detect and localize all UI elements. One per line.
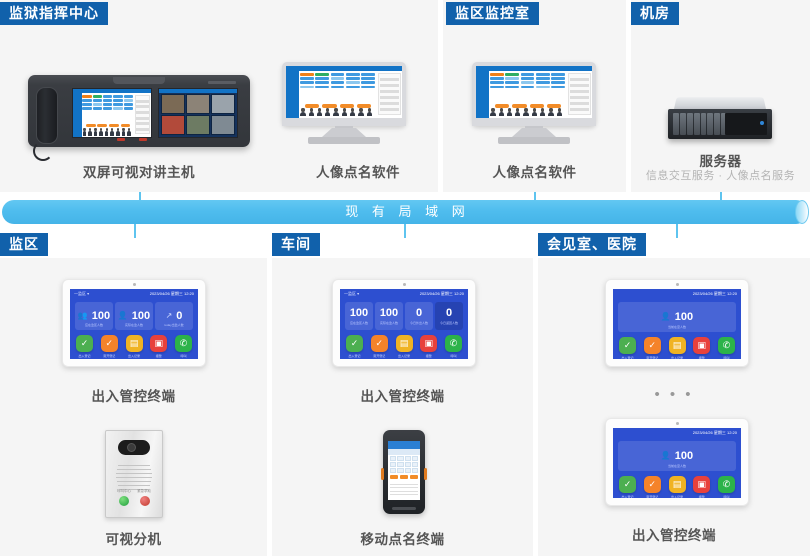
stat-label: 实际在监人数 <box>115 323 153 327</box>
tablet-screen-4: 2023/04/26 星期三 12:20 👤 100 当前在室人数 ✓ 出入登记 <box>613 428 741 498</box>
tablet-screen-3: 2023/04/26 星期三 12:20 👤 100 当前在室人数 ✓ 出入登记 <box>613 289 741 359</box>
subcaption-server: 信息交互服务 · 人像点名服务 <box>631 167 810 183</box>
terminal-datetime: 2023/04/26 星期三 12:20 <box>693 291 737 297</box>
app-alarm[interactable]: ▣ 报警 <box>420 335 437 358</box>
host-right-screen <box>158 88 238 138</box>
lock-icon: ▣ <box>693 476 710 493</box>
app-label: 报警 <box>693 495 710 498</box>
app-label: 离开登记 <box>644 495 661 498</box>
label-call-center: 呼叫中心 <box>117 489 131 494</box>
terminal-stats-row-2: 100 应在监区人数 100 实际在监人数 0 今日外出人数 <box>345 302 463 330</box>
label-emergency: 紧急求助 <box>137 489 151 494</box>
sw-right-table <box>135 95 151 134</box>
server-drive-bays <box>673 113 727 135</box>
host-left-screen <box>72 88 152 138</box>
stat-card: 100 应在监区人数 <box>345 302 373 330</box>
dual-screen-intercom-host <box>28 75 250 147</box>
document-icon: ▤ <box>126 335 143 352</box>
monitor-stand-base-1 <box>308 137 380 144</box>
access-control-terminal-3[interactable]: 2023/04/26 星期三 12:20 👤 100 当前在室人数 ✓ 出入登记 <box>605 279 749 367</box>
app-entry-register[interactable]: ✓ 出入登记 <box>346 335 363 358</box>
access-control-terminal-4[interactable]: 2023/04/26 星期三 12:20 👤 100 当前在室人数 ✓ 出入登记 <box>605 418 749 506</box>
app-label: 呼叫 <box>718 495 735 498</box>
stat-card: 👤 100 实际在监人数 <box>115 302 153 330</box>
check-icon: ✓ <box>101 335 118 352</box>
terminal-app-row-2: ✓ 出入登记 ✓ 离开登记 ▤ 出入记录 ▣ 报警 <box>346 335 462 358</box>
tablet-camera-dot <box>676 283 679 286</box>
app-leave-register[interactable]: ✓ 离开登记 <box>101 335 118 358</box>
tablet-shell-3: 2023/04/26 星期三 12:20 👤 100 当前在室人数 ✓ 出入登记 <box>605 279 749 367</box>
caption-terminal-meeting: 出入管控终端 <box>538 524 810 544</box>
terminal-app-row-4: ✓ 出入登记 ✓ 离开登记 ▤ 出入记录 ▣ 报警 <box>619 476 735 498</box>
phone-icon: ✆ <box>445 335 462 352</box>
app-entry-register[interactable]: ✓ 出入登记 <box>76 335 93 358</box>
app-label: 报警 <box>150 354 167 358</box>
tablet-camera-dot <box>133 283 136 286</box>
people-icon: 👥 <box>78 312 88 320</box>
tab-monitor-room: 监区监控室 <box>446 2 539 25</box>
pda-chassis <box>383 430 425 514</box>
app-entry-register[interactable]: ✓ 出入登记 <box>619 337 636 359</box>
monitor-bezel-1 <box>282 62 406 126</box>
check-icon: ✓ <box>371 335 388 352</box>
lan-bar-endcap <box>795 200 809 224</box>
lan-network-label: 现 有 局 域 网 <box>2 200 808 224</box>
access-control-terminal-2[interactable]: 一监区 ▾ 2023/04/26 星期三 12:20 100 应在监区人数 10… <box>332 279 476 367</box>
video-door-extension[interactable]: 呼叫中心 紧急求助 <box>105 430 163 518</box>
app-label: 出入记录 <box>669 356 686 359</box>
stat-card: 100 实际在监人数 <box>375 302 403 330</box>
stat-card: 👥 100 应在监区人数 <box>75 302 113 330</box>
terminal-stats-row-4: 👤 100 当前在室人数 <box>618 441 736 471</box>
connector-prison-area <box>134 224 136 238</box>
tab-meeting-hospital: 会见室、医院 <box>538 233 646 256</box>
emergency-button[interactable] <box>140 496 150 506</box>
camera-lens <box>127 443 136 452</box>
app-label: 报警 <box>693 356 710 359</box>
more-devices-ellipsis: • • • <box>538 386 810 403</box>
host-status-leds <box>117 138 161 142</box>
app-label: 呼叫 <box>175 354 192 358</box>
phone-icon: ✆ <box>718 337 735 354</box>
phone-icon: ✆ <box>718 476 735 493</box>
stat-card: 0 今日外出人数 <box>405 302 433 330</box>
tablet-screen-1: 一监区 ▾ 2023/04/26 星期三 12:20 👥 100 应在监区人数 … <box>70 289 198 359</box>
tablet-shell-2: 一监区 ▾ 2023/04/26 星期三 12:20 100 应在监区人数 10… <box>332 279 476 367</box>
stat-label: 应在监区人数 <box>75 323 113 327</box>
stat-value: 100 <box>675 312 693 323</box>
monitor-roll-call-1 <box>282 62 406 144</box>
terminal-app-row-3: ✓ 出入登记 ✓ 离开登记 ▤ 出入记录 ▣ 报警 <box>619 337 735 359</box>
intercom-buttons <box>106 496 162 506</box>
host-brand-mark <box>208 81 236 84</box>
mobile-roll-call-terminal[interactable] <box>383 430 425 514</box>
app-leave-register[interactable]: ✓ 离开登记 <box>644 476 661 498</box>
tablet-screen-2: 一监区 ▾ 2023/04/26 星期三 12:20 100 应在监区人数 10… <box>340 289 468 359</box>
tablet-camera-dot <box>403 283 406 286</box>
stat-label: 实际在监人数 <box>380 321 398 325</box>
caption-terminal-workshop: 出入管控终端 <box>272 385 533 405</box>
app-call[interactable]: ✆ 呼叫 <box>718 476 735 498</box>
lock-icon: ▣ <box>693 337 710 354</box>
roll-call-software-mock <box>286 66 402 118</box>
app-call[interactable]: ✆ 呼叫 <box>175 335 192 358</box>
app-label: 报警 <box>420 354 437 358</box>
call-button[interactable] <box>119 496 129 506</box>
roll-call-software-mock <box>73 89 151 137</box>
video-wall-mock <box>159 89 237 137</box>
app-records[interactable]: ▤ 出入记录 <box>126 335 143 358</box>
stat-label: 当前在室人数 <box>618 464 736 468</box>
pda-home-bar[interactable] <box>392 507 416 510</box>
handset-icon <box>36 87 58 144</box>
app-call[interactable]: ✆ 呼叫 <box>445 335 462 358</box>
check-icon: ✓ <box>644 337 661 354</box>
intercom-faceplate: 呼叫中心 紧急求助 <box>105 430 163 518</box>
tablet-camera-dot <box>676 422 679 425</box>
pda-subheader <box>388 449 420 454</box>
app-call[interactable]: ✆ 呼叫 <box>718 337 735 359</box>
app-label: 离开登记 <box>644 356 661 359</box>
app-records[interactable]: ▤ 出入记录 <box>396 335 413 358</box>
check-icon: ✓ <box>346 335 363 352</box>
caption-terminal-prison-area: 出入管控终端 <box>0 385 267 405</box>
stat-value: 0 <box>176 311 182 322</box>
stat-card: 0 今日返回人数 <box>435 302 463 330</box>
tab-workshop: 车间 <box>272 233 320 256</box>
server-power-led <box>760 121 764 125</box>
lan-network-bar: 现 有 局 域 网 <box>2 200 808 224</box>
caption-video-extension: 可视分机 <box>0 528 267 548</box>
stat-card: 👤 100 当前在室人数 <box>618 302 736 332</box>
tablet-shell-4: 2023/04/26 星期三 12:20 👤 100 当前在室人数 ✓ 出入登记 <box>605 418 749 506</box>
terminal-statusbar-1: 一监区 ▾ 2023/04/26 星期三 12:20 <box>70 289 198 300</box>
app-label: 出入记录 <box>126 354 143 358</box>
stat-label: 当前在室人数 <box>618 325 736 329</box>
lock-icon: ▣ <box>150 335 167 352</box>
sw-sidebar <box>73 93 82 137</box>
pda-side-button-left[interactable] <box>381 468 384 480</box>
caption-roll-call-software-1: 人像点名软件 <box>278 161 438 181</box>
stat-value: 100 <box>92 311 110 322</box>
rack-server <box>668 96 772 139</box>
app-label: 出入记录 <box>669 495 686 498</box>
topology-diagram: 监狱指挥中心 监区监控室 机房 <box>0 0 810 556</box>
person-icon: 👤 <box>661 313 671 321</box>
tablet-shell-1: 一监区 ▾ 2023/04/26 星期三 12:20 👥 100 应在监区人数 … <box>62 279 206 367</box>
pda-number-grid <box>390 456 418 473</box>
terminal-stats-row-3: 👤 100 当前在室人数 <box>618 302 736 332</box>
stat-card: ↗ 0 today出监人数 <box>155 302 193 330</box>
terminal-statusbar-4: 2023/04/26 星期三 12:20 <box>613 428 741 439</box>
app-label: 出入登记 <box>619 495 636 498</box>
app-label: 出入登记 <box>76 354 93 358</box>
terminal-datetime: 2023/04/26 星期三 12:20 <box>693 430 737 436</box>
pda-app-titlebar <box>388 441 420 449</box>
monitor-chin-2 <box>472 118 596 126</box>
person-icon: 👤 <box>118 312 128 320</box>
host-camera-bar <box>113 77 165 84</box>
stat-label: today出监人数 <box>155 323 193 327</box>
app-label: 呼叫 <box>718 356 735 359</box>
terminal-statusbar-3: 2023/04/26 星期三 12:20 <box>613 289 741 300</box>
app-label: 呼叫 <box>445 354 462 358</box>
terminal-app-row-1: ✓ 出入登记 ✓ 离开登记 ▤ 出入记录 ▣ 报警 <box>76 335 192 358</box>
caption-dual-screen-host: 双屏可视对讲主机 <box>0 161 278 181</box>
roll-call-software-mock <box>476 66 592 118</box>
caption-roll-call-software-2: 人像点名软件 <box>443 161 626 181</box>
stat-value: 100 <box>380 308 398 319</box>
document-icon: ▤ <box>396 335 413 352</box>
caption-mobile-terminal: 移动点名终端 <box>272 528 533 548</box>
speaker-grille <box>116 462 152 492</box>
app-label: 出入登记 <box>619 356 636 359</box>
stat-label: 应在监区人数 <box>350 321 368 325</box>
person-icon: 👤 <box>661 452 671 460</box>
terminal-area-selector[interactable]: 一监区 ▾ <box>344 291 359 297</box>
app-label: 出入记录 <box>396 354 413 358</box>
stat-value: 100 <box>675 451 693 462</box>
app-records[interactable]: ▤ 出入记录 <box>669 337 686 359</box>
sw-chip-rows <box>82 95 133 123</box>
terminal-statusbar-2: 一监区 ▾ 2023/04/26 星期三 12:20 <box>340 289 468 300</box>
app-leave-register[interactable]: ✓ 离开登记 <box>371 335 388 358</box>
sw-titlebar <box>73 89 151 93</box>
monitor-roll-call-2 <box>472 62 596 144</box>
vw-camera-grid <box>161 94 236 136</box>
terminal-area-selector[interactable]: 一监区 ▾ <box>74 291 89 297</box>
monitor-chin-1 <box>282 118 406 126</box>
stat-value: 100 <box>350 308 368 319</box>
stat-value: 0 <box>446 308 452 319</box>
camera-icon <box>118 440 150 455</box>
app-leave-register[interactable]: ✓ 离开登记 <box>644 337 661 359</box>
app-alarm[interactable]: ▣ 报警 <box>693 337 710 359</box>
connector-workshop <box>404 224 406 238</box>
check-icon: ✓ <box>76 335 93 352</box>
sw-person-thumbnails <box>82 128 133 136</box>
terminal-stats-row-1: 👥 100 应在监区人数 👤 100 实际在监人数 <box>75 302 193 330</box>
document-icon: ▤ <box>669 337 686 354</box>
tab-prison-area: 监区 <box>0 233 48 256</box>
terminal-datetime: 2023/04/26 星期三 12:20 <box>150 291 194 297</box>
vw-titlebar <box>159 89 237 93</box>
app-records[interactable]: ▤ 出入记录 <box>669 476 686 498</box>
lock-icon: ▣ <box>420 335 437 352</box>
app-label: 离开登记 <box>371 354 388 358</box>
stat-label: 今日返回人数 <box>440 321 458 325</box>
app-label: 出入登记 <box>346 354 363 358</box>
stat-label: 今日外出人数 <box>410 321 428 325</box>
connector-meeting-hospital <box>676 224 678 238</box>
handset-cord <box>33 141 53 161</box>
stat-card: 👤 100 当前在室人数 <box>618 441 736 471</box>
exit-icon: ↗ <box>166 312 173 320</box>
pda-action-buttons <box>390 475 418 479</box>
pda-screen <box>388 441 420 500</box>
phone-icon: ✆ <box>175 335 192 352</box>
document-icon: ▤ <box>669 476 686 493</box>
sw-action-buttons <box>84 124 132 127</box>
tab-command-center: 监狱指挥中心 <box>0 2 108 25</box>
tab-server-room: 机房 <box>631 2 679 25</box>
monitor-screen-1 <box>286 66 402 118</box>
server-top-face <box>674 97 766 109</box>
check-icon: ✓ <box>619 337 636 354</box>
check-icon: ✓ <box>644 476 661 493</box>
app-label: 离开登记 <box>101 354 118 358</box>
terminal-datetime: 2023/04/26 星期三 12:20 <box>420 291 464 297</box>
server-front-panel <box>668 109 772 139</box>
pda-side-button-right[interactable] <box>424 468 427 480</box>
stat-value: 100 <box>132 311 150 322</box>
monitor-bezel-2 <box>472 62 596 126</box>
app-alarm[interactable]: ▣ 报警 <box>693 476 710 498</box>
monitor-stand-base-2 <box>498 137 570 144</box>
pda-list-lines <box>390 482 418 498</box>
intercom-button-labels: 呼叫中心 紧急求助 <box>106 489 162 494</box>
app-entry-register[interactable]: ✓ 出入登记 <box>619 476 636 498</box>
access-control-terminal-1[interactable]: 一监区 ▾ 2023/04/26 星期三 12:20 👥 100 应在监区人数 … <box>62 279 206 367</box>
app-alarm[interactable]: ▣ 报警 <box>150 335 167 358</box>
check-icon: ✓ <box>619 476 636 493</box>
stat-value: 0 <box>416 308 422 319</box>
monitor-screen-2 <box>476 66 592 118</box>
